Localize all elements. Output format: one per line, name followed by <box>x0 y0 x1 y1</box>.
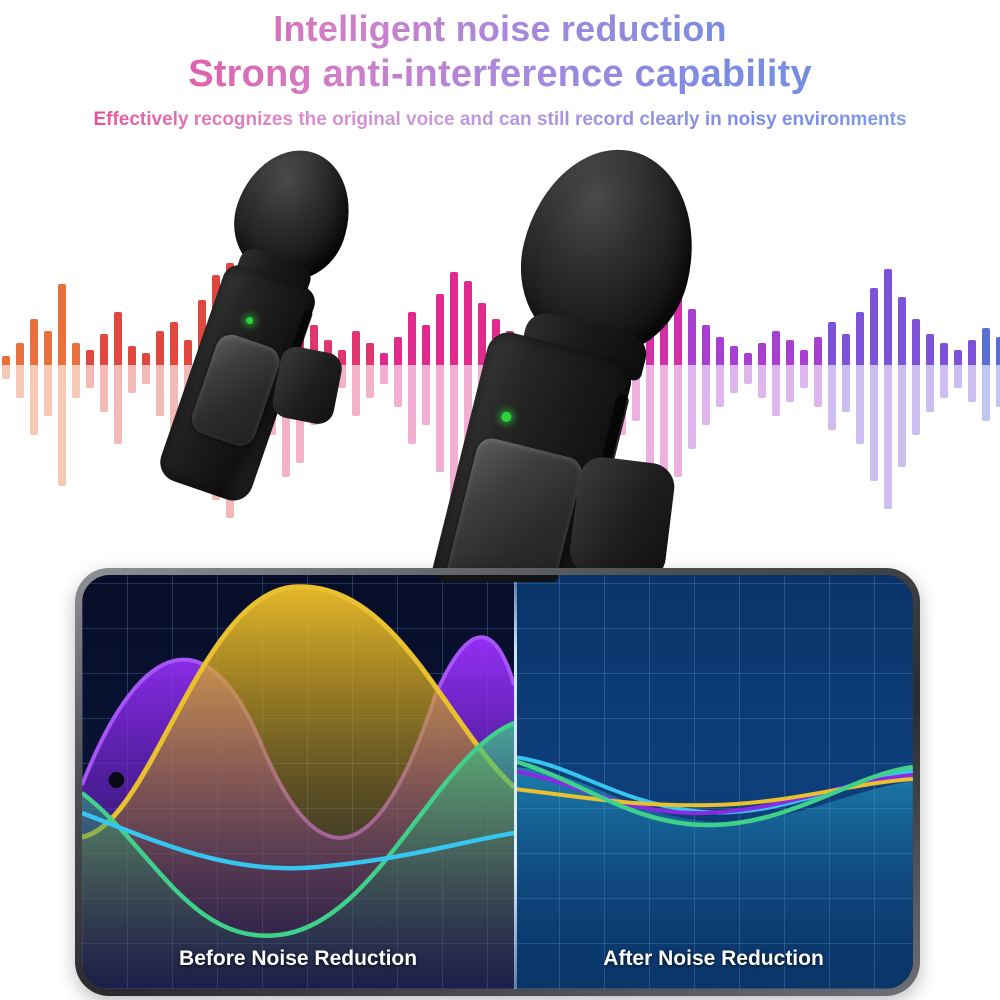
label-after-noise-reduction: After Noise Reduction <box>514 947 913 971</box>
label-before-noise-reduction: Before Noise Reduction <box>82 947 514 971</box>
waveform-bar <box>114 312 122 444</box>
waveform-bar <box>30 319 38 435</box>
waveform-bar-lower <box>716 365 724 407</box>
waveform-bar-lower <box>758 365 766 398</box>
waveform-bar <box>912 319 920 435</box>
waveform-bar-lower <box>856 365 864 444</box>
waveform-bar <box>814 337 822 407</box>
waveform-bar <box>870 288 878 482</box>
waveform-bar-lower <box>44 365 52 416</box>
waveform-bar <box>842 334 850 412</box>
waveform-bar-upper <box>898 297 906 365</box>
pane-after-noise-reduction <box>514 575 913 989</box>
headline-line-2: Strong anti-interference capability <box>0 52 1000 96</box>
earpiece-speaker-slot <box>438 575 558 582</box>
waveform-bar-lower <box>842 365 850 412</box>
phone-screen: Before Noise Reduction After Noise Reduc… <box>82 575 913 989</box>
waveform-bar-lower <box>870 365 878 481</box>
waveform-bar <box>16 343 24 397</box>
waveform-bar-lower <box>730 365 738 393</box>
pane-divider <box>514 575 517 989</box>
waveform-bar-lower <box>142 365 150 384</box>
marketing-banner: Intelligent noise reduction Strong anti-… <box>0 0 1000 1000</box>
waveform-bar-upper <box>2 356 10 365</box>
waveform-bar <box>940 343 948 397</box>
waveform-bar-upper <box>772 331 780 365</box>
waveform-bar <box>828 322 836 431</box>
waveform-bar-lower <box>940 365 948 398</box>
waveform-bar-upper <box>758 343 766 365</box>
waveform-bar-lower <box>828 365 836 430</box>
waveform-bar-upper <box>72 343 80 365</box>
waveform-bar-lower <box>58 365 66 486</box>
waveform-bar-upper <box>940 343 948 365</box>
waveform-before <box>82 575 514 989</box>
waveform-bar <box>142 353 150 384</box>
waveform-bar-upper <box>142 353 150 365</box>
waveform-bar <box>884 269 892 509</box>
waveform-bar <box>86 350 94 389</box>
waveform-bar-upper <box>814 337 822 365</box>
waveform-bar <box>968 340 976 402</box>
smartphone-device: Before Noise Reduction After Noise Reduc… <box>75 568 920 996</box>
waveform-bar-upper <box>926 334 934 365</box>
waveform-bar <box>982 328 990 421</box>
waveform-bar-lower <box>30 365 38 435</box>
waveform-bar-upper <box>996 337 1000 365</box>
waveform-bar-upper <box>968 340 976 365</box>
waveform-bar-upper <box>982 328 990 365</box>
mic-clip-arm <box>567 455 677 584</box>
waveform-bar <box>996 337 1000 407</box>
waveform-bar-lower <box>786 365 794 402</box>
waveform-bar-upper <box>58 284 66 365</box>
waveform-bar <box>954 350 962 389</box>
waveform-bar-lower <box>100 365 108 412</box>
waveform-bar-upper <box>86 350 94 366</box>
waveform-bar-upper <box>730 346 738 365</box>
waveform-bar <box>772 331 780 416</box>
waveform-bar <box>800 350 808 389</box>
waveform-bar-upper <box>30 319 38 366</box>
waveform-bar <box>744 353 752 384</box>
waveform-bar <box>856 312 864 444</box>
waveform-bar-upper <box>100 334 108 365</box>
waveform-bar <box>716 337 724 407</box>
waveform-bar-lower <box>16 365 24 398</box>
waveform-bar-upper <box>156 331 164 365</box>
waveform-bar <box>926 334 934 412</box>
waveform-bar <box>44 331 52 416</box>
waveform-bar-upper <box>786 340 794 365</box>
waveform-bar <box>58 284 66 486</box>
waveform-bar-lower <box>128 365 136 393</box>
waveform-bar <box>72 343 80 397</box>
waveform-bar-lower <box>884 365 892 509</box>
waveform-bar-lower <box>2 365 10 379</box>
waveform-bar <box>100 334 108 412</box>
waveform-bar-lower <box>912 365 920 435</box>
headline-line-1: Intelligent noise reduction <box>0 8 1000 50</box>
waveform-bar-upper <box>744 353 752 365</box>
waveform-bar <box>898 297 906 468</box>
waveform-bar-upper <box>856 312 864 365</box>
pane-before-noise-reduction <box>82 575 514 989</box>
waveform-bar-upper <box>128 346 136 365</box>
waveform-bar-lower <box>898 365 906 467</box>
waveform-bar <box>730 346 738 393</box>
waveform-bar-upper <box>114 312 122 365</box>
waveform-bar-lower <box>814 365 822 407</box>
waveform-bar-lower <box>72 365 80 398</box>
waveform-bar-lower <box>926 365 934 412</box>
waveform-bar-lower <box>86 365 94 388</box>
waveform-bar-lower <box>982 365 990 421</box>
waveform-bar <box>128 346 136 393</box>
waveform-bar-lower <box>996 365 1000 407</box>
mic-clip-arm <box>270 344 345 427</box>
waveform-bar-lower <box>954 365 962 388</box>
waveform-bar-lower <box>114 365 122 444</box>
waveform-bar-lower <box>744 365 752 384</box>
waveform-bar-upper <box>954 350 962 366</box>
waveform-bar-upper <box>16 343 24 365</box>
waveform-bar <box>786 340 794 402</box>
waveform-bar-lower <box>772 365 780 416</box>
waveform-bar <box>758 343 766 397</box>
waveform-bar-upper <box>828 322 836 365</box>
waveform-bar-upper <box>44 331 52 365</box>
headline-block: Intelligent noise reduction Strong anti-… <box>0 8 1000 132</box>
waveform-bar-upper <box>800 350 808 366</box>
waveform-bar-upper <box>912 319 920 366</box>
waveform-bar <box>2 356 10 379</box>
waveform-bar-lower <box>968 365 976 402</box>
waveform-bar-lower <box>800 365 808 388</box>
waveform-bar-upper <box>870 288 878 366</box>
waveform-bar-upper <box>842 334 850 365</box>
waveform-after <box>514 575 913 989</box>
waveform-bar-upper <box>884 269 892 365</box>
